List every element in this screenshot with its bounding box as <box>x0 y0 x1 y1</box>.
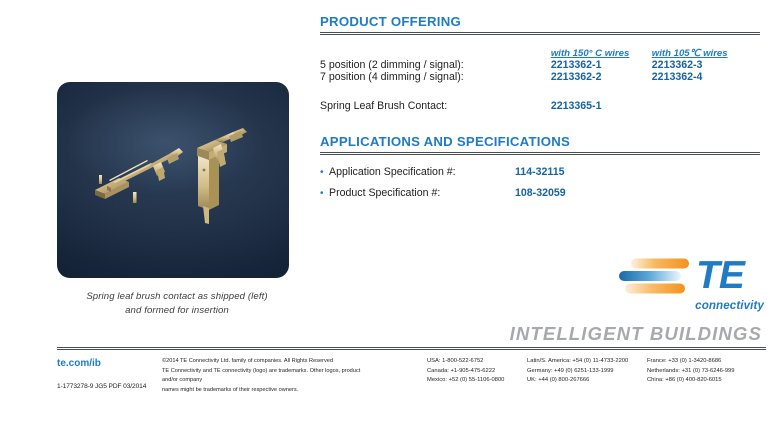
list-item: • Application Specification #: 114-32115 <box>320 166 760 178</box>
header-col-b: with 105℃ wires <box>652 48 760 59</box>
row-label: 7 position (4 dimming / signal): <box>320 71 551 83</box>
datasheet-page: Spring leaf brush contact as shipped (le… <box>0 0 779 426</box>
te-wordmark: TE <box>696 259 744 293</box>
photo-caption-line-1: Spring leaf brush contact as shipped (le… <box>57 290 297 304</box>
contact-line: Canada: +1-905-475-6222 <box>427 367 504 377</box>
table-row: 5 position (2 dimming / signal): 2213362… <box>320 59 760 71</box>
footer-contacts-column-2: Latin/S. America: +54 (0) 11-4733-2200 G… <box>527 357 628 386</box>
contact-line: China: +86 (0) 400-820-6015 <box>647 376 735 386</box>
photo-caption-line-2: and formed for insertion <box>57 304 297 318</box>
content-column: PRODUCT OFFERING with 150° C wires with … <box>320 14 760 208</box>
spec-label: Application Specification #: <box>329 166 515 178</box>
contact-parts-illustration <box>57 82 289 278</box>
part-number[interactable]: 2213362-3 <box>652 59 760 71</box>
bullet-icon: • <box>320 188 329 199</box>
te-bars-icon <box>615 255 689 297</box>
contact-line: UK: +44 (0) 800-267666 <box>527 376 628 386</box>
product-photo <box>57 82 289 278</box>
legal-line-2: TE Connectivity and TE connectivity (log… <box>162 367 362 386</box>
row-label: Spring Leaf Brush Contact: <box>320 100 551 112</box>
bullet-icon: • <box>320 167 329 178</box>
part-number[interactable]: 2213365-1 <box>551 100 652 112</box>
footer-contacts-column-1: USA: 1-800-522-6752 Canada: +1-905-475-6… <box>427 357 504 386</box>
te-logo-row: TE <box>615 255 765 297</box>
legal-line-3: names might be trademarks of their respe… <box>162 386 362 396</box>
row-label: 5 position (2 dimming / signal): <box>320 59 551 71</box>
applications-specifications-heading: APPLICATIONS AND SPECIFICATIONS <box>320 134 760 149</box>
contact-line: USA: 1-800-522-6752 <box>427 357 504 367</box>
footer-legal-text: ©2014 TE Connectivity Ltd. family of com… <box>162 357 362 395</box>
product-offering-rule <box>320 32 760 35</box>
contact-line: France: +33 (0) 1-3420-8686 <box>647 357 735 367</box>
list-item: • Product Specification #: 108-32059 <box>320 187 760 199</box>
specifications-list: • Application Specification #: 114-32115… <box>320 166 760 199</box>
header-col-a: with 150° C wires <box>551 48 652 59</box>
contact-line: Mexico: +52 (0) 55-1106-0800 <box>427 376 504 386</box>
specifications-section: APPLICATIONS AND SPECIFICATIONS • Applic… <box>320 134 760 199</box>
contact-as-shipped <box>95 148 183 203</box>
footer-divider <box>57 347 766 350</box>
te-logo: TE connectivity <box>615 255 765 312</box>
part-number <box>652 100 760 112</box>
applications-specifications-rule <box>320 152 760 155</box>
te-connectivity-label: connectivity <box>615 299 764 312</box>
contact-line: Netherlands: +31 (0) 73-6246-999 <box>647 367 735 377</box>
footer-document-number: 1-1773278-9 JG5 PDF 03/2014 <box>57 383 146 390</box>
part-number[interactable]: 2213362-4 <box>652 71 760 83</box>
header-label-cell <box>320 48 551 59</box>
footer-website-link[interactable]: te.com/ib <box>57 358 101 369</box>
contact-formed <box>197 128 247 224</box>
table-row: 7 position (4 dimming / signal): 2213362… <box>320 71 760 83</box>
part-number[interactable]: 2213362-1 <box>551 59 652 71</box>
spec-value[interactable]: 114-32115 <box>515 166 565 178</box>
product-offering-heading: PRODUCT OFFERING <box>320 14 760 29</box>
table-header-row: with 150° C wires with 105℃ wires <box>320 48 760 59</box>
tagline: INTELLIGENT BUILDINGS <box>390 323 762 345</box>
product-offering-table: with 150° C wires with 105℃ wires 5 posi… <box>320 48 760 112</box>
legal-line-1: ©2014 TE Connectivity Ltd. family of com… <box>162 357 362 367</box>
footer-contacts-column-3: France: +33 (0) 1-3420-8686 Netherlands:… <box>647 357 735 386</box>
table-spacer-row <box>320 83 760 100</box>
product-photo-column: Spring leaf brush contact as shipped (le… <box>57 82 304 317</box>
photo-caption: Spring leaf brush contact as shipped (le… <box>57 290 297 317</box>
spec-label: Product Specification #: <box>329 187 515 199</box>
spec-value[interactable]: 108-32059 <box>515 187 566 199</box>
contact-line: Germany: +49 (0) 6251-133-1999 <box>527 367 628 377</box>
part-number[interactable]: 2213362-2 <box>551 71 652 83</box>
contact-line: Latin/S. America: +54 (0) 11-4733-2200 <box>527 357 628 367</box>
table-row: Spring Leaf Brush Contact: 2213365-1 <box>320 100 760 112</box>
